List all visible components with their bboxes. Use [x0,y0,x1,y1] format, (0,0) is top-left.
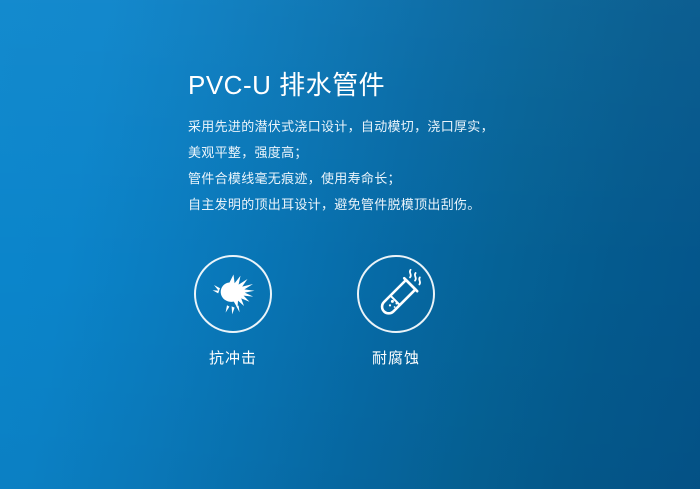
feature-label: 耐腐蚀 [372,347,420,368]
page-title: PVC-U 排水管件 [188,68,608,102]
description-line: 美观平整，强度高； [188,140,608,166]
description-line: 管件合模线毫无痕迹，使用寿命长； [188,166,608,192]
feature-list: 抗冲击 [188,255,441,368]
impact-burst-icon [207,268,259,320]
feature-label: 抗冲击 [209,347,257,368]
feature-icon-circle [357,255,435,333]
test-tube-icon [370,268,422,320]
description-line: 采用先进的潜伏式浇口设计，自动模切，浇口厚实， [188,114,608,140]
product-banner: PVC-U 排水管件 采用先进的潜伏式浇口设计，自动模切，浇口厚实， 美观平整，… [0,0,700,489]
banner-content: PVC-U 排水管件 采用先进的潜伏式浇口设计，自动模切，浇口厚实， 美观平整，… [188,68,608,218]
description-list: 采用先进的潜伏式浇口设计，自动模切，浇口厚实， 美观平整，强度高； 管件合模线毫… [188,114,608,218]
feature-item-impact-resistant: 抗冲击 [188,255,278,368]
description-line: 自主发明的顶出耳设计，避免管件脱模顶出刮伤。 [188,192,608,218]
feature-icon-circle [194,255,272,333]
feature-item-corrosion-resistant: 耐腐蚀 [351,255,441,368]
